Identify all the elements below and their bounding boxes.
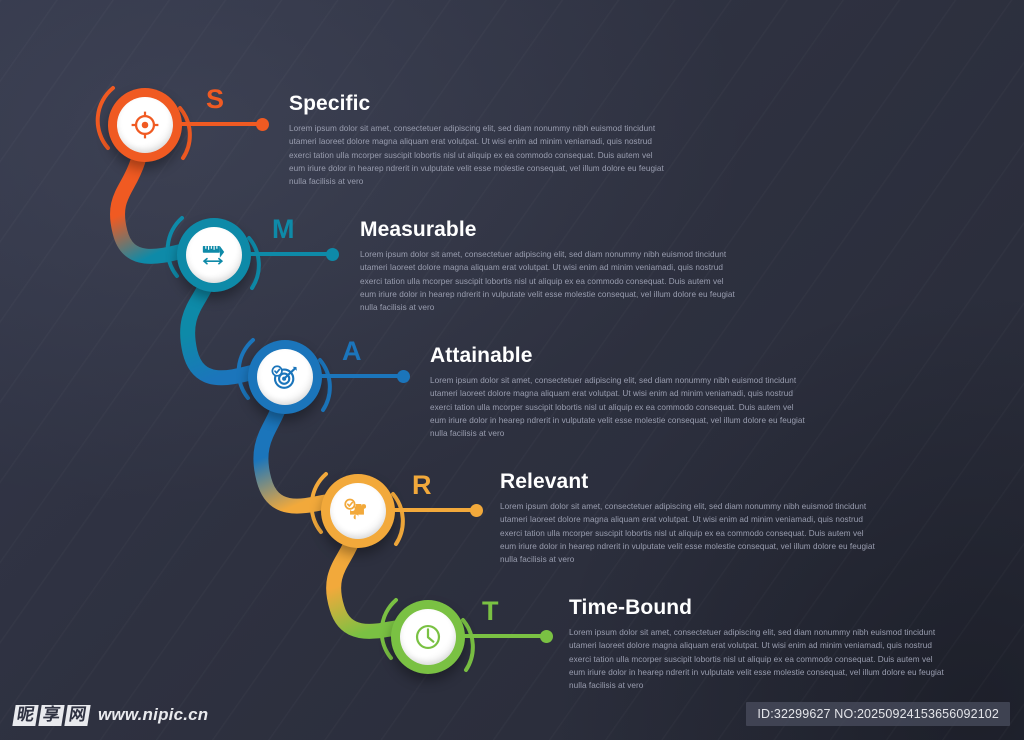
step-letter-a: A bbox=[342, 338, 362, 365]
clock-icon bbox=[411, 620, 445, 654]
watermark: 昵 享 网 www.nipic.cn bbox=[14, 705, 208, 726]
heading-time-bound: Time-Bound bbox=[569, 597, 944, 618]
node-icon-wrap bbox=[400, 609, 456, 665]
connector-dot-attainable bbox=[397, 370, 410, 383]
connector-line-time-bound bbox=[460, 634, 548, 638]
id-badge: ID:32299627 NO:20250924153656092102 bbox=[746, 702, 1010, 726]
step-letter-t: T bbox=[482, 598, 499, 625]
heading-relevant: Relevant bbox=[500, 471, 875, 492]
body-relevant: Lorem ipsum dolor sit amet, consectetuer… bbox=[500, 500, 875, 566]
body-specific: Lorem ipsum dolor sit amet, consectetuer… bbox=[289, 122, 664, 188]
connector-line-relevant bbox=[390, 508, 478, 512]
connector-line-attainable bbox=[317, 374, 405, 378]
connector-line-measurable bbox=[246, 252, 334, 256]
body-attainable: Lorem ipsum dolor sit amet, consectetuer… bbox=[430, 374, 805, 440]
body-time-bound: Lorem ipsum dolor sit amet, consectetuer… bbox=[569, 626, 944, 692]
node-icon-wrap bbox=[186, 227, 242, 283]
wm-char-1: 享 bbox=[38, 705, 64, 726]
dartboard-arrow-check-icon bbox=[268, 360, 302, 394]
body-measurable: Lorem ipsum dolor sit amet, consectetuer… bbox=[360, 248, 735, 314]
connector-line-specific bbox=[176, 122, 264, 126]
text-block-attainable: Attainable Lorem ipsum dolor sit amet, c… bbox=[430, 345, 805, 440]
wm-char-2: 网 bbox=[64, 705, 90, 726]
heading-specific: Specific bbox=[289, 93, 664, 114]
connector-dot-time-bound bbox=[540, 630, 553, 643]
puzzle-piece-check-icon bbox=[341, 494, 375, 528]
text-block-specific: Specific Lorem ipsum dolor sit amet, con… bbox=[289, 93, 664, 188]
crosshair-target-icon bbox=[128, 108, 162, 142]
wm-char-0: 昵 bbox=[12, 705, 38, 726]
node-icon-wrap bbox=[330, 483, 386, 539]
connector-dot-measurable bbox=[326, 248, 339, 261]
heading-measurable: Measurable bbox=[360, 219, 735, 240]
watermark-url: www.nipic.cn bbox=[98, 705, 208, 725]
step-letter-s: S bbox=[206, 86, 225, 113]
infographic-canvas: S Specific Lorem ipsum dolor sit amet, c… bbox=[0, 0, 1024, 740]
text-block-measurable: Measurable Lorem ipsum dolor sit amet, c… bbox=[360, 219, 735, 314]
heading-attainable: Attainable bbox=[430, 345, 805, 366]
text-block-time-bound: Time-Bound Lorem ipsum dolor sit amet, c… bbox=[569, 597, 944, 692]
node-icon-wrap bbox=[117, 97, 173, 153]
connector-dot-relevant bbox=[470, 504, 483, 517]
step-letter-r: R bbox=[412, 472, 432, 499]
text-block-relevant: Relevant Lorem ipsum dolor sit amet, con… bbox=[500, 471, 875, 566]
connector-dot-specific bbox=[256, 118, 269, 131]
step-letter-m: M bbox=[272, 216, 295, 243]
node-icon-wrap bbox=[257, 349, 313, 405]
ruler-measure-icon bbox=[197, 238, 231, 272]
watermark-logo-cn: 昵 享 网 bbox=[14, 705, 89, 726]
